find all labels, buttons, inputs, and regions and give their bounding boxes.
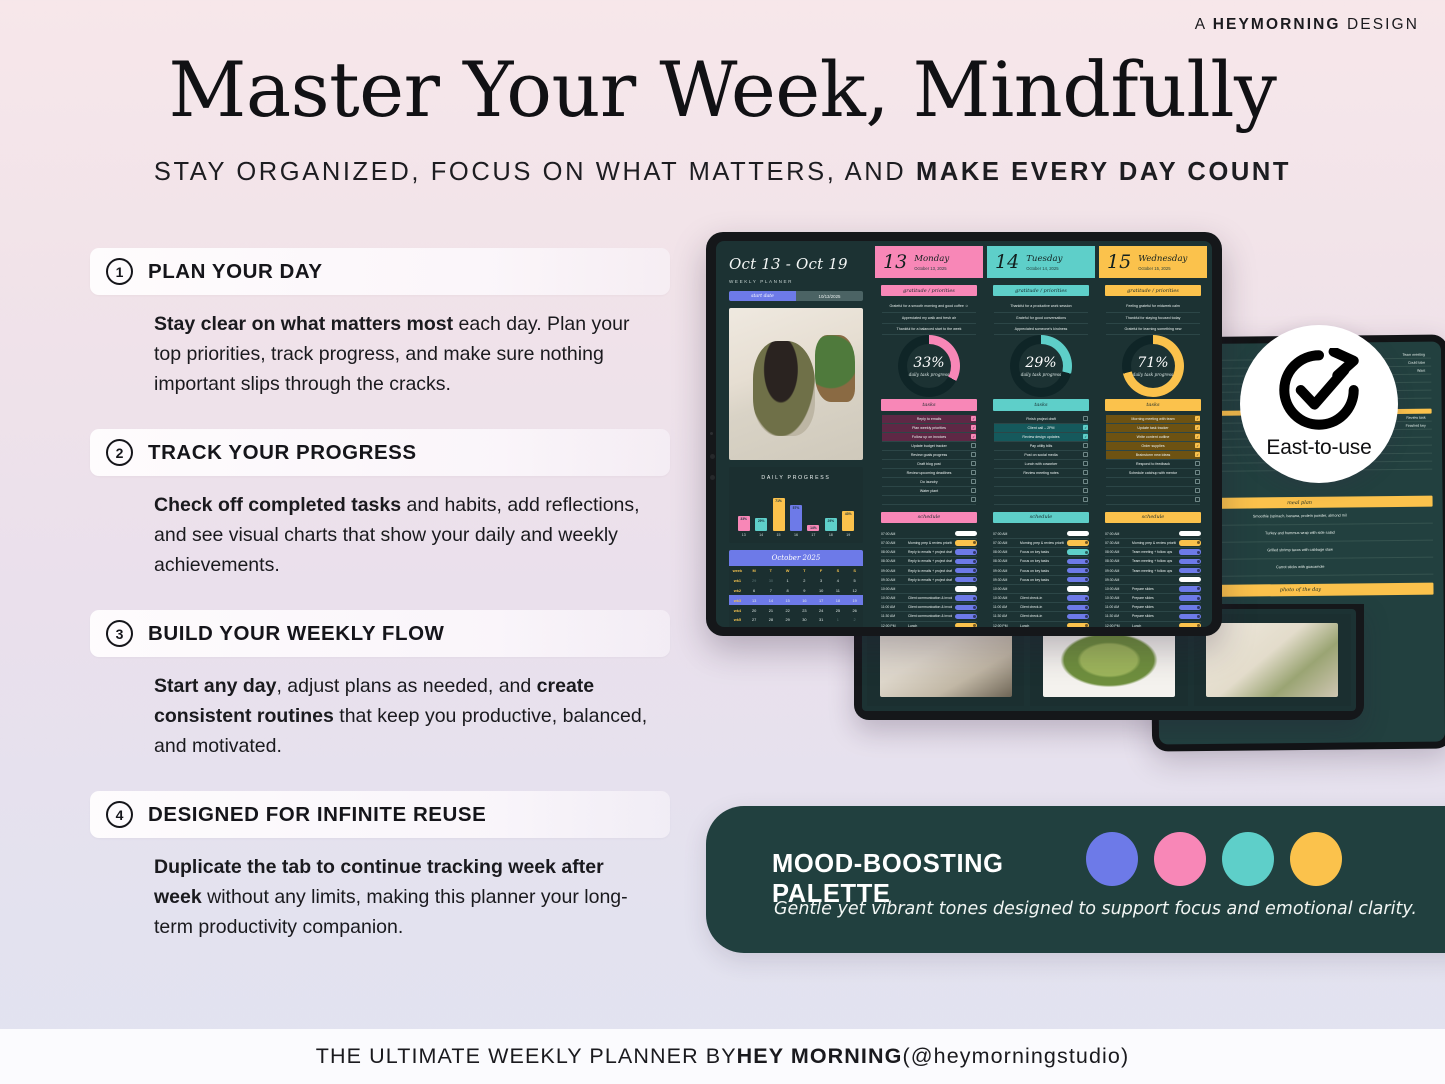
- calendar-day-cell[interactable]: 2: [846, 615, 863, 625]
- task-checkbox[interactable]: ✓: [971, 416, 976, 421]
- progress-ring-label: daily task progress: [1021, 372, 1061, 377]
- schedule-row[interactable]: 08:00 AMTeam meeting + follow ups: [1105, 548, 1201, 557]
- schedule-row[interactable]: 09:00 AMReply to emails + project draft: [881, 566, 977, 575]
- task-checkbox[interactable]: ✓: [1083, 425, 1088, 430]
- schedule-row[interactable]: 08:00 AMFocus on key tasks: [993, 548, 1089, 557]
- calendar-day-cell[interactable]: 7: [813, 625, 830, 627]
- calendar-day-cell[interactable]: 25: [830, 605, 847, 615]
- schedule-row[interactable]: 11:30 AMPrepare slides: [1105, 612, 1201, 621]
- schedule-list: 07:00 AM07:30 AMMorning prep & review pr…: [881, 530, 977, 627]
- task-checkbox[interactable]: [971, 452, 976, 457]
- chevron-down-icon[interactable]: [973, 578, 976, 581]
- schedule-time: 07:30 AM: [881, 541, 905, 545]
- calendar-week-row[interactable]: wk313141516171819: [729, 595, 863, 605]
- calendar-day-cell[interactable]: 29: [779, 615, 796, 625]
- gratitude-item[interactable]: Grateful for good conversations: [994, 313, 1088, 324]
- task-checkbox[interactable]: [1083, 497, 1088, 502]
- chevron-down-icon[interactable]: [973, 541, 976, 544]
- schedule-category-chip[interactable]: [1179, 586, 1201, 591]
- tablet-front-device: Oct 13 - Oct 19 WEEKLY PLANNER start dat…: [706, 232, 1222, 636]
- chevron-down-icon[interactable]: [973, 597, 976, 600]
- task-label: Post on social media: [1024, 453, 1057, 457]
- footer-normal-1: THE ULTIMATE WEEKLY PLANNER BY: [316, 1044, 737, 1069]
- schedule-description[interactable]: Reply to emails + project draft: [908, 550, 952, 554]
- progress-ring-label: daily task progress: [1133, 372, 1173, 377]
- chart-x-tick: 18: [829, 533, 833, 537]
- badge-label: East-to-use: [1266, 436, 1371, 460]
- calendar-day-cell[interactable]: 28: [763, 615, 780, 625]
- subtitle-normal: STAY ORGANIZED, FOCUS ON WHAT MATTERS, A…: [154, 158, 916, 186]
- gratitude-item[interactable]: Appreciated someone's kindness: [994, 324, 1088, 335]
- gratitude-item[interactable]: Thankful for a balanced start to the wee…: [882, 324, 976, 335]
- chart-x-tick: 15: [777, 533, 781, 537]
- chevron-down-icon[interactable]: [1197, 624, 1200, 627]
- task-row[interactable]: [994, 496, 1088, 505]
- chevron-down-icon[interactable]: [1197, 560, 1200, 563]
- schedule-category-chip[interactable]: [1179, 605, 1201, 610]
- task-row[interactable]: Write content outline✓: [1106, 433, 1200, 442]
- calendar-day-cell[interactable]: 15: [779, 595, 796, 605]
- schedule-category-chip[interactable]: [1179, 568, 1201, 573]
- schedule-category-chip[interactable]: [1067, 623, 1089, 627]
- calendar-day-cell[interactable]: 6: [796, 625, 813, 627]
- calendar-day-cell[interactable]: 9: [796, 586, 813, 596]
- schedule-category-chip[interactable]: [955, 531, 977, 536]
- calendar-day-cell[interactable]: 31: [813, 615, 830, 625]
- task-row[interactable]: Respond to feedback: [1106, 460, 1200, 469]
- schedule-row[interactable]: 10:00 AM: [993, 585, 1089, 594]
- calendar-day-cell[interactable]: 2: [796, 576, 813, 586]
- calendar-week-row[interactable]: wk63456789: [729, 625, 863, 627]
- calendar-day-cell[interactable]: 17: [813, 595, 830, 605]
- task-row[interactable]: Post on social media: [994, 451, 1088, 460]
- schedule-category-chip[interactable]: [955, 549, 977, 554]
- schedule-category-chip[interactable]: [1067, 540, 1089, 545]
- task-label: Lunch with coworker: [1025, 462, 1058, 466]
- task-row[interactable]: Update budget tracker: [882, 442, 976, 451]
- schedule-category-chip[interactable]: [955, 605, 977, 610]
- calendar-day-cell[interactable]: 4: [763, 625, 780, 627]
- calendar-week-row[interactable]: wk5272829303112: [729, 615, 863, 625]
- schedule-description[interactable]: Focus on key tasks: [1020, 550, 1064, 554]
- schedule-category-chip[interactable]: [1067, 586, 1089, 591]
- page-subtitle: STAY ORGANIZED, FOCUS ON WHAT MATTERS, A…: [0, 158, 1445, 187]
- calendar-day-cell[interactable]: 11: [830, 586, 847, 596]
- task-label: Review meeting notes: [1023, 471, 1058, 475]
- task-checkbox[interactable]: [1195, 461, 1200, 466]
- calendar-day-cell[interactable]: 9: [846, 625, 863, 627]
- swatch-yellow: [1290, 832, 1342, 886]
- schedule-description[interactable]: Reply to emails + project draft: [908, 559, 952, 563]
- chevron-down-icon[interactable]: [1085, 569, 1088, 572]
- schedule-row[interactable]: 12:00 PMLunch: [1105, 622, 1201, 627]
- schedule-row[interactable]: 10:30 AMClient check-in: [993, 594, 1089, 603]
- schedule-row[interactable]: 09:00 AMTeam meeting + follow ups: [1105, 566, 1201, 575]
- schedule-description[interactable]: Lunch: [908, 624, 952, 627]
- progress-ring-label: daily task progress: [909, 372, 949, 377]
- chevron-down-icon[interactable]: [1197, 615, 1200, 618]
- daily-progress-chart: DAILY PROGRESS 33%1329%1471%1557%1614%17…: [729, 467, 863, 543]
- calendar-dow-cell: S: [830, 566, 847, 576]
- task-checkbox[interactable]: [1195, 488, 1200, 493]
- schedule-row[interactable]: 10:00 AMPrepare slides: [1105, 585, 1201, 594]
- task-checkbox[interactable]: ✓: [1195, 434, 1200, 439]
- schedule-category-chip[interactable]: [1179, 531, 1201, 536]
- day-number: 13: [883, 253, 907, 272]
- schedule-description[interactable]: Client communication & invoices: [908, 614, 952, 618]
- schedule-category-chip[interactable]: [955, 540, 977, 545]
- calendar-day-cell[interactable]: 1: [830, 615, 847, 625]
- calendar-day-cell[interactable]: 3: [746, 625, 763, 627]
- schedule-description[interactable]: Prepare slides: [1132, 614, 1176, 618]
- day-date: October 13, 2025: [914, 266, 949, 271]
- schedule-category-chip[interactable]: [955, 595, 977, 600]
- schedule-description[interactable]: Lunch: [1020, 624, 1064, 627]
- schedule-row[interactable]: 07:00 AM: [881, 530, 977, 539]
- task-row[interactable]: [994, 478, 1088, 487]
- calendar-day-cell[interactable]: 21: [763, 605, 780, 615]
- chevron-down-icon[interactable]: [1085, 541, 1088, 544]
- task-checkbox[interactable]: [971, 461, 976, 466]
- schedule-row[interactable]: 07:00 AM: [1105, 530, 1201, 539]
- calendar-week-row[interactable]: wk420212223242526: [729, 605, 863, 615]
- schedule-description[interactable]: Reply to emails + project draft: [908, 578, 952, 582]
- task-row[interactable]: Follow up on invoices✓: [882, 433, 976, 442]
- schedule-category-chip[interactable]: [1179, 549, 1201, 554]
- chevron-down-icon[interactable]: [973, 569, 976, 572]
- schedule-row[interactable]: 11:30 AMClient check-in: [993, 612, 1089, 621]
- palette-title-line1: MOOD-BOOSTING: [772, 850, 1004, 880]
- task-checkbox[interactable]: [1195, 479, 1200, 484]
- task-checkbox[interactable]: [1083, 488, 1088, 493]
- calendar-title: October 2025: [729, 550, 863, 566]
- review-text: Finished key: [1406, 423, 1426, 427]
- schedule-description[interactable]: Prepare slides: [1132, 605, 1176, 609]
- task-row[interactable]: Pay utility bills: [994, 442, 1088, 451]
- chevron-down-icon[interactable]: [1085, 615, 1088, 618]
- day-date: October 15, 2025: [1138, 266, 1187, 271]
- chevron-down-icon[interactable]: [1197, 569, 1200, 572]
- schedule-time: 10:30 AM: [1105, 596, 1129, 600]
- schedule-row[interactable]: 11:00 AMClient communication & invoices: [881, 603, 977, 612]
- task-row[interactable]: Morning meeting with team✓: [1106, 415, 1200, 424]
- chevron-down-icon[interactable]: [973, 560, 976, 563]
- calendar-day-cell[interactable]: 3: [813, 576, 830, 586]
- calendar-day-cell[interactable]: 14: [763, 595, 780, 605]
- task-row[interactable]: Brainstorm new ideas✓: [1106, 451, 1200, 460]
- schedule-description[interactable]: Focus on key tasks: [1020, 569, 1064, 573]
- schedule-category-chip[interactable]: [955, 559, 977, 564]
- task-checkbox[interactable]: ✓: [971, 434, 976, 439]
- schedule-description[interactable]: Morning prep & review priorities: [1020, 541, 1064, 545]
- task-row[interactable]: Review upcoming deadlines: [882, 469, 976, 478]
- chart-title: DAILY PROGRESS: [735, 475, 857, 481]
- schedule-row[interactable]: 07:30 AMMorning prep & review priorities: [881, 539, 977, 548]
- task-checkbox[interactable]: [1195, 497, 1200, 502]
- chevron-down-icon[interactable]: [1197, 597, 1200, 600]
- task-checkbox[interactable]: ✓: [1083, 434, 1088, 439]
- task-row[interactable]: Review design updates✓: [994, 433, 1088, 442]
- task-checkbox[interactable]: [971, 479, 976, 484]
- schedule-description[interactable]: Focus on key tasks: [1020, 578, 1064, 582]
- schedule-description[interactable]: Client communication & invoices: [908, 605, 952, 609]
- task-checkbox[interactable]: [1083, 461, 1088, 466]
- schedule-row[interactable]: 10:00 AM: [881, 585, 977, 594]
- chevron-down-icon[interactable]: [1197, 587, 1200, 590]
- gratitude-list: Feeling grateful for midweek calmThankfu…: [1106, 301, 1200, 335]
- feature-item-1: 1 PLAN YOUR DAY Stay clear on what matte…: [90, 248, 670, 399]
- gratitude-item[interactable]: Grateful for a smooth morning and good c…: [882, 301, 976, 312]
- task-label: Client call – 2PM: [1028, 426, 1055, 430]
- task-row[interactable]: [1106, 496, 1200, 505]
- feature-number-badge: 1: [106, 258, 133, 285]
- schedule-row[interactable]: 09:30 AM: [1105, 576, 1201, 585]
- gratitude-item[interactable]: Grateful for learning something new: [1106, 324, 1200, 335]
- task-row[interactable]: Order supplies✓: [1106, 442, 1200, 451]
- schedule-row[interactable]: 12:00 PMLunch: [993, 622, 1089, 627]
- schedule-category-chip[interactable]: [1067, 559, 1089, 564]
- schedule-description[interactable]: Lunch: [1132, 624, 1176, 627]
- schedule-description[interactable]: Prepare slides: [1132, 596, 1176, 600]
- calendar-dow-cell: M: [746, 566, 763, 576]
- chart-x-tick: 14: [759, 533, 763, 537]
- task-row[interactable]: Do laundry: [882, 478, 976, 487]
- calendar-day-cell[interactable]: 29: [746, 576, 763, 586]
- schedule-description[interactable]: Client check-in: [1020, 605, 1064, 609]
- schedule-row[interactable]: 11:00 AMClient check-in: [993, 603, 1089, 612]
- schedule-category-chip[interactable]: [1179, 577, 1201, 582]
- calendar-day-cell[interactable]: 8: [779, 586, 796, 596]
- calendar-day-cell[interactable]: 27: [746, 615, 763, 625]
- chevron-down-icon[interactable]: [1197, 541, 1200, 544]
- calendar-day-cell[interactable]: 30: [796, 615, 813, 625]
- schedule-row[interactable]: 07:30 AMMorning prep & review priorities: [1105, 539, 1201, 548]
- schedule-description[interactable]: Client check-in: [1020, 596, 1064, 600]
- chart-x-tick: 19: [846, 533, 850, 537]
- task-checkbox[interactable]: [1083, 470, 1088, 475]
- chevron-down-icon[interactable]: [1085, 551, 1088, 554]
- chart-x-tick: 16: [794, 533, 798, 537]
- schedule-description[interactable]: Reply to emails + project draft: [908, 569, 952, 573]
- chevron-down-icon[interactable]: [1085, 560, 1088, 563]
- schedule-category-chip[interactable]: [1067, 577, 1089, 582]
- feature-header-1: 1 PLAN YOUR DAY: [90, 248, 670, 295]
- chevron-down-icon[interactable]: [1197, 551, 1200, 554]
- task-checkbox[interactable]: [1083, 416, 1088, 421]
- chevron-down-icon[interactable]: [1197, 606, 1200, 609]
- calendar-day-cell[interactable]: 5: [779, 625, 796, 627]
- task-checkbox[interactable]: [971, 470, 976, 475]
- calendar-day-cell[interactable]: 12: [846, 586, 863, 596]
- schedule-description[interactable]: Morning prep & review priorities: [908, 541, 952, 545]
- schedule-description[interactable]: Morning prep & review priorities: [1132, 541, 1176, 545]
- task-checkbox[interactable]: ✓: [1195, 425, 1200, 430]
- schedule-row[interactable]: 09:00 AMFocus on key tasks: [993, 566, 1089, 575]
- schedule-row[interactable]: 08:00 AMReply to emails + project draft: [881, 548, 977, 557]
- schedule-description[interactable]: Focus on key tasks: [1020, 559, 1064, 563]
- schedule-description[interactable]: Team meeting + follow ups: [1132, 569, 1176, 573]
- schedule-category-chip[interactable]: [955, 577, 977, 582]
- gratitude-item[interactable]: Appreciated my walk and fresh air: [882, 313, 976, 324]
- chevron-down-icon[interactable]: [1085, 606, 1088, 609]
- task-row[interactable]: [994, 487, 1088, 496]
- task-label: Brainstorm new ideas: [1136, 453, 1171, 457]
- calendar-week-row[interactable]: wk1293012345: [729, 576, 863, 586]
- schedule-row[interactable]: 08:30 AMTeam meeting + follow ups: [1105, 557, 1201, 566]
- task-row[interactable]: [882, 496, 976, 505]
- calendar-day-cell[interactable]: 26: [846, 605, 863, 615]
- month-calendar: October 2025 weekMTWTFSS wk1293012345wk2…: [729, 550, 863, 627]
- chart-bar-group: 29%14: [755, 487, 767, 537]
- schedule-row[interactable]: 08:30 AMFocus on key tasks: [993, 557, 1089, 566]
- task-row[interactable]: Review goals progress: [882, 451, 976, 460]
- gratitude-item[interactable]: Thankful for staying focused today: [1106, 313, 1200, 324]
- chevron-down-icon[interactable]: [973, 606, 976, 609]
- chart-bars: 33%1329%1471%1557%1614%1729%1843%19: [735, 487, 857, 537]
- schedule-row[interactable]: 11:00 AMPrepare slides: [1105, 603, 1201, 612]
- task-row[interactable]: Lunch with coworker: [994, 460, 1088, 469]
- schedule-category-chip[interactable]: [1067, 568, 1089, 573]
- schedule-description[interactable]: Team meeting + follow ups: [1132, 559, 1176, 563]
- start-date-row[interactable]: start date 10/13/2025: [729, 291, 863, 301]
- gratitude-item[interactable]: Thankful for a productive work session: [994, 301, 1088, 312]
- calendar-day-cell[interactable]: 16: [796, 595, 813, 605]
- task-checkbox[interactable]: [971, 497, 976, 502]
- chevron-down-icon[interactable]: [1085, 597, 1088, 600]
- calendar-day-cell[interactable]: 7: [763, 586, 780, 596]
- calendar-day-cell[interactable]: 4: [830, 576, 847, 586]
- task-checkbox[interactable]: [1195, 470, 1200, 475]
- schedule-row[interactable]: 09:30 AMReply to emails + project draft: [881, 576, 977, 585]
- schedule-row[interactable]: 10:30 AMClient communication & invoices: [881, 594, 977, 603]
- schedule-category-chip[interactable]: [1067, 605, 1089, 610]
- schedule-description[interactable]: Client check-in: [1020, 614, 1064, 618]
- calendar-week-row[interactable]: wk26789101112: [729, 586, 863, 596]
- brand-name: HEYMORNING: [1213, 16, 1341, 33]
- task-checkbox[interactable]: ✓: [971, 425, 976, 430]
- calendar-day-cell[interactable]: 22: [779, 605, 796, 615]
- task-checkbox[interactable]: [1083, 443, 1088, 448]
- task-row[interactable]: Plan weekly priorities✓: [882, 424, 976, 433]
- calendar-day-cell[interactable]: 24: [813, 605, 830, 615]
- task-row[interactable]: Client call – 2PM✓: [994, 424, 1088, 433]
- schedule-list: 07:00 AM07:30 AMMorning prep & review pr…: [1105, 530, 1201, 627]
- schedule-category-chip[interactable]: [1067, 614, 1089, 619]
- schedule-time: 12:00 PM: [993, 624, 1017, 627]
- task-label: Respond to feedback: [1136, 462, 1170, 466]
- calendar-day-cell[interactable]: 6: [746, 586, 763, 596]
- task-checkbox[interactable]: ✓: [1195, 416, 1200, 421]
- calendar-day-cell[interactable]: 13: [746, 595, 763, 605]
- feature-description: Duplicate the tab to continue tracking w…: [154, 852, 654, 942]
- task-checkbox[interactable]: ✓: [1195, 443, 1200, 448]
- task-checkbox[interactable]: [971, 488, 976, 493]
- gratitude-item[interactable]: Feeling grateful for midweek calm: [1106, 301, 1200, 312]
- calendar-dow-cell: W: [779, 566, 796, 576]
- calendar-day-cell[interactable]: 30: [763, 576, 780, 586]
- schedule-category-chip[interactable]: [955, 586, 977, 591]
- calendar-week-label: wk5: [729, 615, 746, 625]
- task-checkbox[interactable]: [1083, 479, 1088, 484]
- task-label: Reply to emails: [917, 417, 942, 421]
- task-checkbox[interactable]: [971, 443, 976, 448]
- schedule-category-chip[interactable]: [1067, 595, 1089, 600]
- schedule-category-chip[interactable]: [1179, 540, 1201, 545]
- day-header: 13MondayOctober 13, 2025: [875, 246, 983, 278]
- start-date-label: start date: [729, 291, 796, 301]
- schedule-row[interactable]: 07:30 AMMorning prep & review priorities: [993, 539, 1089, 548]
- feature-desc-rest: , adjust plans as needed, and: [276, 675, 536, 697]
- chevron-down-icon[interactable]: [1085, 624, 1088, 627]
- calendar-day-cell[interactable]: 20: [746, 605, 763, 615]
- task-row[interactable]: Reply to emails✓: [882, 415, 976, 424]
- calendar-day-cell[interactable]: 1: [779, 576, 796, 586]
- chevron-down-icon[interactable]: [973, 551, 976, 554]
- brand-prefix: A: [1195, 16, 1213, 33]
- chart-bar: 14%: [807, 525, 819, 531]
- schedule-row[interactable]: 10:30 AMPrepare slides: [1105, 594, 1201, 603]
- task-row[interactable]: [1106, 487, 1200, 496]
- calendar-day-cell[interactable]: 5: [846, 576, 863, 586]
- task-row[interactable]: Draft blog post: [882, 460, 976, 469]
- task-row[interactable]: Water plant: [882, 487, 976, 496]
- task-row[interactable]: Schedule catchup with mentor: [1106, 469, 1200, 478]
- schedule-row[interactable]: 12:00 PMLunch: [881, 622, 977, 627]
- palette-swatches: [1086, 832, 1342, 886]
- schedule-category-chip[interactable]: [955, 568, 977, 573]
- task-label: Review goals progress: [911, 453, 947, 457]
- section-label-schedule: schedule: [1105, 512, 1201, 523]
- schedule-category-chip[interactable]: [955, 614, 977, 619]
- feature-item-4: 4 DESIGNED FOR INFINITE REUSE Duplicate …: [90, 791, 670, 942]
- schedule-row[interactable]: 09:30 AMFocus on key tasks: [993, 576, 1089, 585]
- calendar-day-cell[interactable]: 18: [830, 595, 847, 605]
- calendar-day-cell[interactable]: 10: [813, 586, 830, 596]
- schedule-category-chip[interactable]: [1179, 559, 1201, 564]
- calendar-day-cell[interactable]: 8: [830, 625, 847, 627]
- chevron-down-icon[interactable]: [1085, 578, 1088, 581]
- schedule-category-chip[interactable]: [1179, 623, 1201, 627]
- schedule-category-chip[interactable]: [1067, 549, 1089, 554]
- schedule-category-chip[interactable]: [1179, 614, 1201, 619]
- feature-item-2: 2 TRACK YOUR PROGRESS Check off complete…: [90, 429, 670, 580]
- schedule-time: 08:00 AM: [993, 550, 1017, 554]
- task-checkbox[interactable]: ✓: [1195, 452, 1200, 457]
- schedule-description[interactable]: Client communication & invoices: [908, 596, 952, 600]
- schedule-description[interactable]: Prepare slides: [1132, 587, 1176, 591]
- hero-plant: [815, 335, 855, 402]
- schedule-row[interactable]: 11:30 AMClient communication & invoices: [881, 612, 977, 621]
- task-row[interactable]: [1106, 478, 1200, 487]
- chart-bar: 57%: [790, 505, 802, 531]
- schedule-row[interactable]: 07:00 AM: [993, 530, 1089, 539]
- day-date: October 14, 2025: [1026, 266, 1062, 271]
- start-date-value[interactable]: 10/13/2025: [796, 291, 863, 301]
- task-row[interactable]: Finish project draft: [994, 415, 1088, 424]
- calendar-day-cell[interactable]: 23: [796, 605, 813, 615]
- chevron-down-icon[interactable]: [973, 624, 976, 627]
- schedule-row[interactable]: 08:30 AMReply to emails + project draft: [881, 557, 977, 566]
- schedule-description[interactable]: Team meeting + follow ups: [1132, 550, 1176, 554]
- task-row[interactable]: Review meeting notes: [994, 469, 1088, 478]
- schedule-category-chip[interactable]: [1067, 531, 1089, 536]
- task-row[interactable]: Update task tracker✓: [1106, 424, 1200, 433]
- task-checkbox[interactable]: [1083, 452, 1088, 457]
- calendar-day-cell[interactable]: 19: [846, 595, 863, 605]
- schedule-category-chip[interactable]: [1179, 595, 1201, 600]
- schedule-category-chip[interactable]: [955, 623, 977, 627]
- chevron-down-icon[interactable]: [973, 615, 976, 618]
